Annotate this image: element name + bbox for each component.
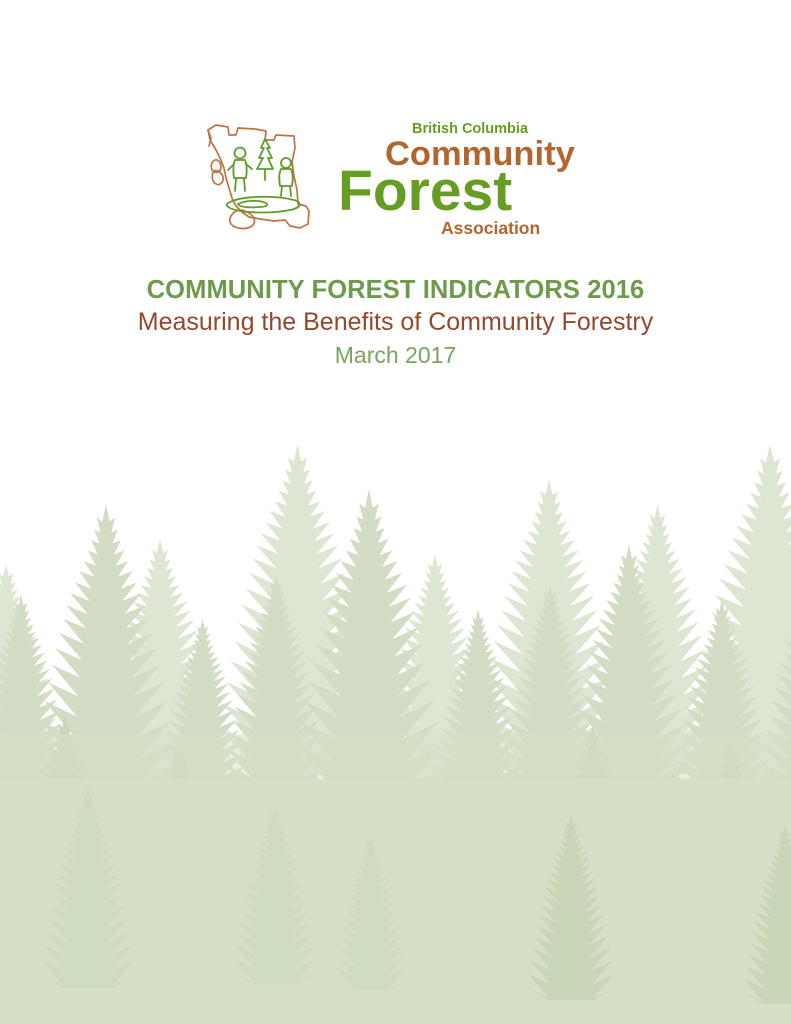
logo-wordmark-text: British Columbia Community Forest Associ… — [338, 118, 590, 242]
page-subtitle: Measuring the Benefits of Community Fore… — [0, 305, 791, 339]
cover-page: British Columbia Community Forest Associ… — [0, 0, 791, 1024]
forest-illustration — [0, 384, 791, 1024]
logo-line-association: Association — [441, 218, 540, 238]
association-logo: British Columbia Community Forest Associ… — [0, 118, 791, 248]
logo-wordmark: British Columbia Community Forest Associ… — [338, 118, 590, 242]
british-columbia-map-outline-icon — [202, 118, 334, 236]
forest-haze — [0, 734, 791, 794]
logo-line-forest: Forest — [338, 159, 512, 223]
page-title: COMMUNITY FOREST INDICATORS 2016 — [0, 275, 791, 305]
publication-date: March 2017 — [0, 339, 791, 371]
title-block: COMMUNITY FOREST INDICATORS 2016 Measuri… — [0, 275, 791, 371]
forest-ground-fill — [0, 779, 791, 1024]
conifer-forest-silhouette — [0, 384, 791, 1024]
